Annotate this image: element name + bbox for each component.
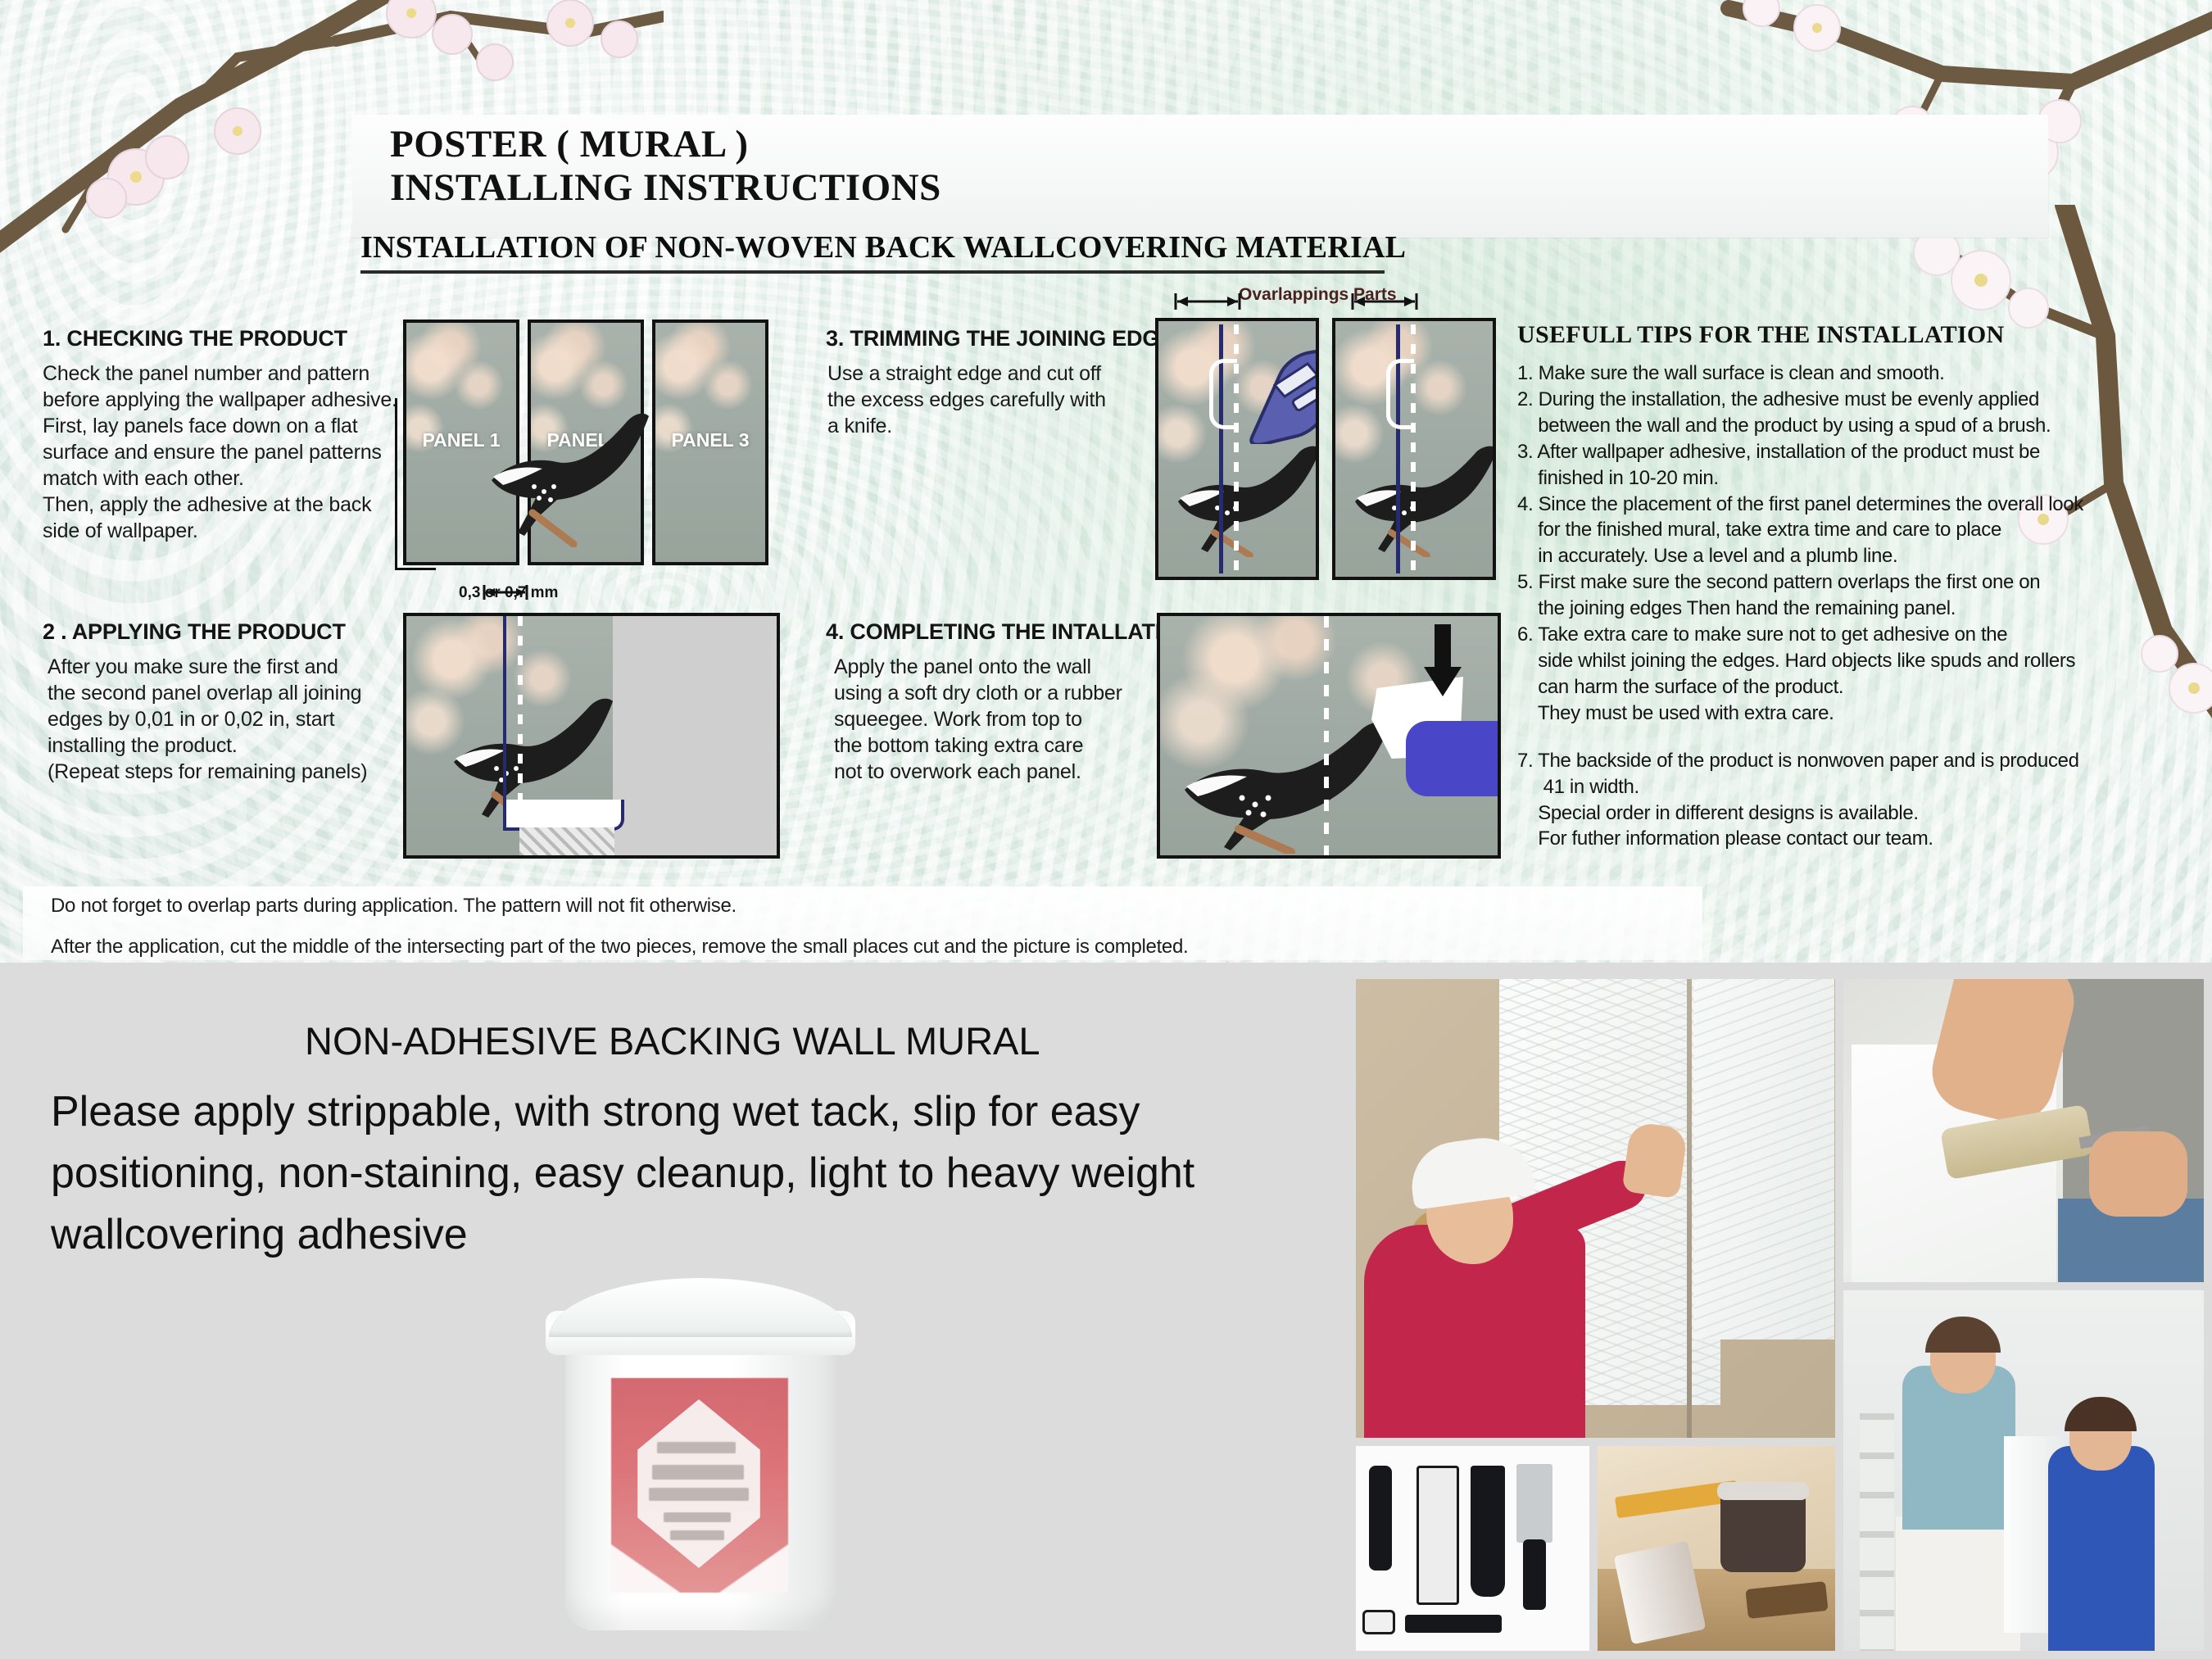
tip-item: 5. First make sure the second pattern ov… xyxy=(1517,569,2189,622)
bottom-body: Please apply strippable, with strong wet… xyxy=(51,1081,1353,1266)
photo4-seam-roller-wheel xyxy=(1362,1610,1395,1634)
tip-6-line-1: 6. Take extra care to make sure not to g… xyxy=(1517,622,2189,648)
figure2-cut-guideline xyxy=(503,616,506,823)
photo5-bucket-lid xyxy=(1717,1482,1809,1500)
tip-5-line-2: the joining edges Then hand the remainin… xyxy=(1517,596,2189,622)
tip-3-line-2: finished in 10-20 min. xyxy=(1517,465,2189,492)
step-1-line-6: Then, apply the adhesive at the back xyxy=(43,492,428,518)
step-3-line-1: Use a straight edge and cut off xyxy=(827,360,1155,387)
paper-curl xyxy=(1386,359,1414,429)
photo5-paste-bucket xyxy=(1720,1489,1806,1572)
photo1-seam xyxy=(1687,979,1692,1438)
tips-panel: USEFULL TIPS FOR THE INSTALLATION 1. Mak… xyxy=(1517,321,2189,852)
photo2-hand xyxy=(2089,1131,2187,1217)
bucket-label-bar xyxy=(664,1512,731,1522)
step-1-line-3: First, lay panels face down on a flat xyxy=(43,413,428,439)
tip-3-line-1: 3. After wallpaper adhesive, installatio… xyxy=(1517,439,2189,465)
bucket-label-bar xyxy=(657,1442,736,1453)
photo4-utility-knife xyxy=(1405,1615,1502,1633)
photo1-hand xyxy=(1621,1122,1688,1199)
step-4-line-1: Apply the panel onto the wall xyxy=(834,654,1162,680)
tip-item: 4. Since the placement of the first pane… xyxy=(1517,492,2189,570)
figure2-hatched-area xyxy=(519,827,614,855)
tip-5-line-1: 5. First make sure the second pattern ov… xyxy=(1517,569,2189,596)
note-line-1: Do not forget to overlap parts during ap… xyxy=(51,895,737,918)
step-4-line-4: the bottom taking extra care xyxy=(834,732,1162,759)
step-3-line-3: a knife. xyxy=(827,413,1155,439)
overlap-dimension-left-icon xyxy=(1173,293,1242,310)
bird-illustration-icon xyxy=(482,383,654,547)
tip-7-line-2: 41 in width. xyxy=(1517,774,2189,800)
photo-two-people-hanging-wallpaper xyxy=(1843,1290,2204,1651)
photo-paste-and-brushes xyxy=(1598,1446,1835,1651)
tip-item: 1. Make sure the wall surface is clean a… xyxy=(1517,360,2189,387)
figure-trimming-edges xyxy=(1155,318,1499,580)
step-1-body: Check the panel number and pattern befor… xyxy=(43,360,428,544)
tip-4-line-3: in accurately. Use a level and a plumb l… xyxy=(1517,543,2189,569)
tips-list: 1. Make sure the wall surface is clean a… xyxy=(1517,360,2189,852)
bird-illustration-icon xyxy=(1173,426,1319,557)
photo4-plastic-scraper xyxy=(1471,1466,1505,1597)
poster-root: POSTER ( MURAL ) INSTALLING INSTRUCTIONS… xyxy=(0,0,2212,1659)
photo-collage xyxy=(1356,979,2204,1651)
step-1-line-2: before applying the wallpaper adhesive. xyxy=(43,387,428,413)
step-3-body: Use a straight edge and cut off the exce… xyxy=(827,360,1155,439)
bottom-line-3: wallcovering adhesive xyxy=(51,1204,1353,1266)
photo-woman-hanging-lining-paper xyxy=(1356,979,1835,1438)
bucket-label-bar xyxy=(652,1465,744,1480)
down-arrow-icon xyxy=(1422,624,1463,698)
tip-7-line-4: For futher information please contact ou… xyxy=(1517,826,2189,852)
photo1-paper-sheet-2 xyxy=(1693,979,1834,1339)
bird-illustration-icon xyxy=(1350,426,1496,557)
panel-3-box: PANEL 3 xyxy=(652,320,768,565)
tip-6-line-3: can harm the surface of the product. xyxy=(1517,674,2189,700)
utility-knife-icon xyxy=(1247,346,1319,444)
step-4-line-2: using a soft dry cloth or a rubber xyxy=(834,680,1162,706)
figure-completing-installation xyxy=(1157,613,1501,859)
title-line-2: INSTALLING INSTRUCTIONS xyxy=(390,166,1619,210)
tips-heading: USEFULL TIPS FOR THE INSTALLATION xyxy=(1517,321,2189,349)
bucket-lid xyxy=(549,1278,852,1337)
bottom-line-2: positioning, non-staining, easy cleanup,… xyxy=(51,1143,1353,1204)
photo4-putty-handle xyxy=(1523,1539,1546,1610)
photo4-seam-roller-handle xyxy=(1369,1466,1392,1571)
step-2-body: After you make sure the first and the se… xyxy=(48,654,433,785)
note-line-2: After the application, cut the middle of… xyxy=(51,936,1188,959)
panel-3-label: PANEL 3 xyxy=(655,429,765,451)
step-1-line-7: side of wallpaper. xyxy=(43,518,428,544)
tip-2-line-1: 2. During the installation, the adhesive… xyxy=(1517,387,2189,413)
tip-item: 3. After wallpaper adhesive, installatio… xyxy=(1517,439,2189,492)
tip-1-line-1: 1. Make sure the wall surface is clean a… xyxy=(1517,360,2189,387)
photo-tool-set xyxy=(1356,1446,1589,1651)
overlap-dimension-right-icon xyxy=(1350,293,1419,310)
step-3-line-2: the excess edges carefully with xyxy=(827,387,1155,413)
tip-6-line-4: They must be used with extra care. xyxy=(1517,700,2189,727)
step-4-line-5: not to overwork each panel. xyxy=(834,759,1162,785)
tip-item: 7. The backside of the product is nonwov… xyxy=(1517,748,2189,853)
instructions-section: POSTER ( MURAL ) INSTALLING INSTRUCTIONS… xyxy=(0,0,2212,963)
trim-frame-left xyxy=(1155,318,1319,580)
figure-three-panels: PANEL 1 PANEL 2 PANEL 3 xyxy=(403,320,780,590)
figure2-overlap-hook xyxy=(503,800,624,831)
tip-2-line-2: between the wall and the product by usin… xyxy=(1517,413,2189,439)
subtitle-wrap: INSTALLATION OF NON-WOVEN BACK WALLCOVER… xyxy=(360,229,1393,274)
bucket-label-bar xyxy=(670,1530,724,1540)
step-2-line-2: the second panel overlap all joining xyxy=(48,680,433,706)
tip-7-line-3: Special order in different designs is av… xyxy=(1517,800,2189,827)
tip-item: 6. Take extra care to make sure not to g… xyxy=(1517,622,2189,727)
tip-7-line-1: 7. The backside of the product is nonwov… xyxy=(1517,748,2189,774)
photo3-ladder xyxy=(1860,1413,1894,1651)
figure1-bottom-tick xyxy=(395,568,436,570)
step-4-line-3: squeegee. Work from top to xyxy=(834,706,1162,732)
bottom-line-1: Please apply strippable, with strong wet… xyxy=(51,1081,1353,1143)
step-4-body: Apply the panel onto the wall using a so… xyxy=(834,654,1162,785)
figure1-left-tick xyxy=(395,398,397,570)
step-2-line-3: edges by 0,01 in or 0,02 in, start xyxy=(48,706,433,732)
bottom-heading: NON-ADHESIVE BACKING WALL MURAL xyxy=(305,1018,1040,1063)
photo-pasting-with-roller xyxy=(1843,979,2204,1282)
step-2-title: 2 . APPLYING THE PRODUCT xyxy=(43,619,346,645)
photo4-smoothing-brush xyxy=(1416,1466,1459,1605)
step-1-title: 1. CHECKING THE PRODUCT xyxy=(43,326,347,351)
page-subtitle: INSTALLATION OF NON-WOVEN BACK WALLCOVER… xyxy=(360,229,1393,265)
dashed-cut-line xyxy=(1411,324,1416,573)
step-1-line-4: surface and ensure the panel patterns xyxy=(43,439,428,465)
tip-6-line-2: side whilst joining the edges. Hard obje… xyxy=(1517,648,2189,674)
step-4-title: 4. COMPLETING THE INTALLATION xyxy=(826,619,1194,645)
tip-4-line-1: 4. Since the placement of the first pane… xyxy=(1517,492,2189,518)
bucket-label-bar xyxy=(649,1488,749,1501)
step-1-line-1: Check the panel number and pattern xyxy=(43,360,428,387)
step-3-title: 3. TRIMMING THE JOINING EDGES xyxy=(826,326,1189,351)
page-title: POSTER ( MURAL ) INSTALLING INSTRUCTIONS xyxy=(390,123,1619,209)
trim-frame-right xyxy=(1332,318,1496,580)
figure-overlap-detail xyxy=(403,613,780,859)
step-1-line-5: match with each other. xyxy=(43,465,428,492)
dashed-seam-line xyxy=(1324,616,1329,855)
tip-item: 2. During the installation, the adhesive… xyxy=(1517,387,2189,439)
step-2-line-4: installing the product. xyxy=(48,732,433,759)
tip-4-line-2: for the finished mural, take extra time … xyxy=(1517,517,2189,543)
gloved-hand xyxy=(1406,721,1501,796)
subtitle-underline xyxy=(360,270,1385,274)
paper-curl xyxy=(1209,359,1237,429)
photo3-man-trousers xyxy=(1896,1516,2020,1651)
photo4-putty-blade xyxy=(1516,1464,1552,1543)
photo3-helper-torso xyxy=(2048,1446,2155,1651)
figure2-dashed-seam xyxy=(518,616,523,826)
dimension-arrow-icon xyxy=(482,583,529,601)
step-2-line-1: After you make sure the first and xyxy=(48,654,433,680)
adhesive-bucket-image xyxy=(541,1278,860,1639)
title-line-1: POSTER ( MURAL ) xyxy=(390,123,1619,166)
tips-gap xyxy=(1517,727,2189,748)
step-2-line-5: (Repeat steps for remaining panels) xyxy=(48,759,433,785)
dashed-cut-line xyxy=(1234,324,1239,573)
